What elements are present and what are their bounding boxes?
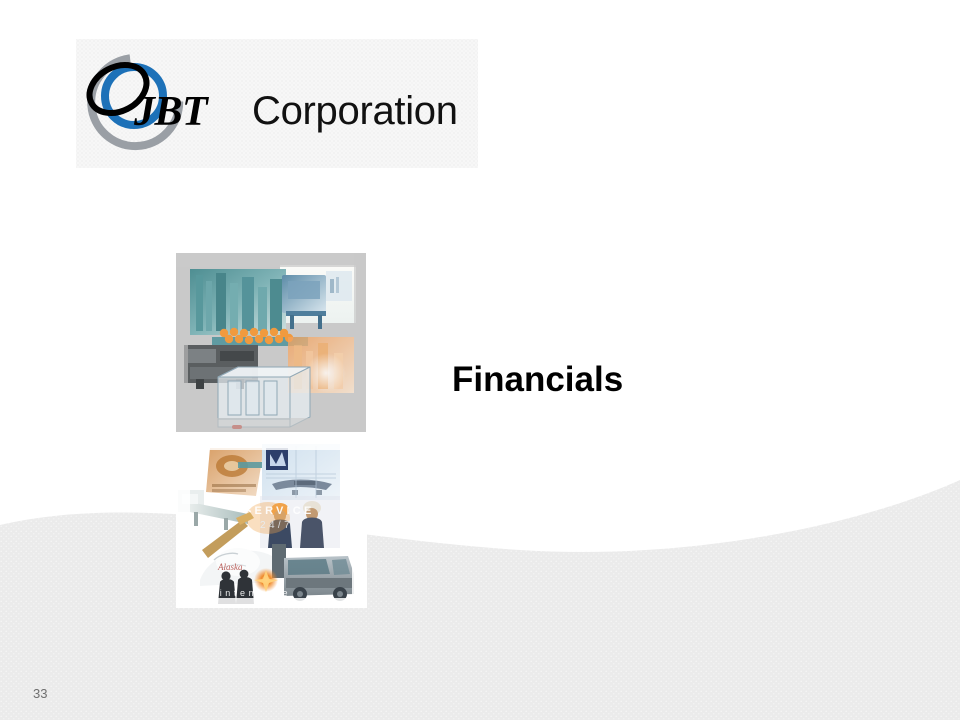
logo-wordmark-jbt: JBT [134,88,207,136]
svg-text:24/7: 24/7 [260,520,293,531]
svg-text:maintenance: maintenance [200,588,291,598]
logo-wordmark-corporation: Corporation [252,89,458,134]
svg-text:SERVICE: SERVICE [244,505,315,517]
industrial-food-processing-collage-image [176,253,366,432]
aviation-service-collage-image: SERVICE 24/7 Alaska [176,440,367,608]
wave-decoration [0,430,960,720]
page-title: Financials [452,360,623,400]
jbt-corporation-logo: JBT Corporation [76,39,478,168]
svg-text:Alaska: Alaska [217,562,243,572]
page-number: 33 [33,686,47,701]
